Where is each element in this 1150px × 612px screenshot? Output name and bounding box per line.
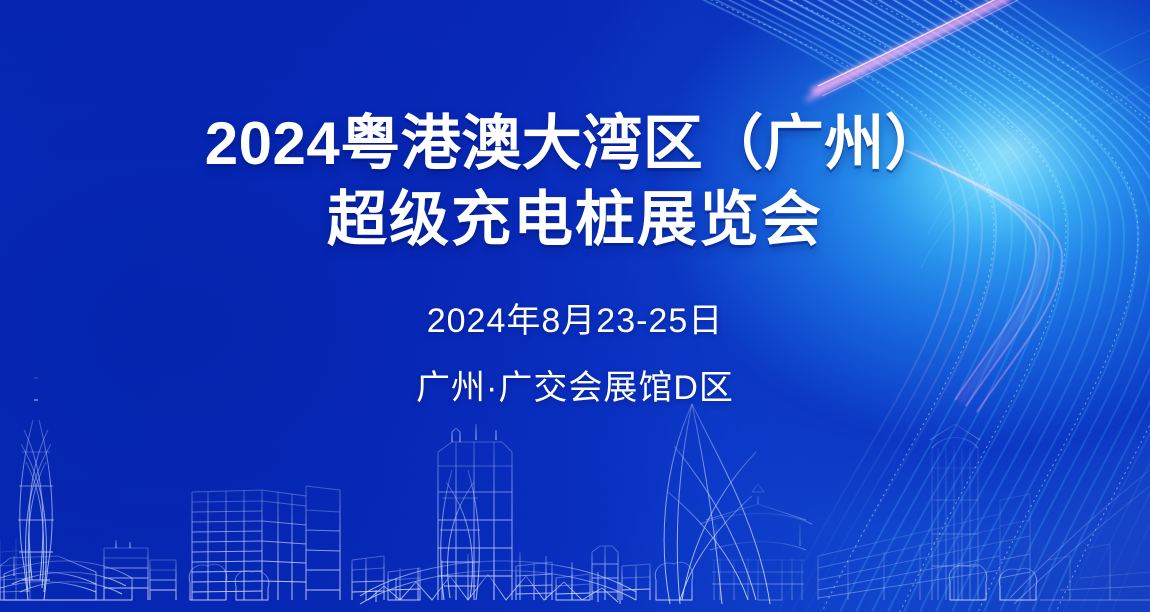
event-venue: 广州·广交会展馆D区 [416,368,734,409]
event-banner: 2024粤港澳大湾区（广州） 超级充电桩展览会 2024年8月23-25日 广州… [0,0,1150,612]
details-block: 2024年8月23-25日 广州·广交会展馆D区 [416,301,734,409]
event-title-line-1: 2024粤港澳大湾区（广州） [205,112,945,176]
title-block: 2024粤港澳大湾区（广州） 超级充电桩展览会 [205,112,945,251]
event-date: 2024年8月23-25日 [416,301,734,342]
event-title-line-2: 超级充电桩展览会 [205,188,945,252]
